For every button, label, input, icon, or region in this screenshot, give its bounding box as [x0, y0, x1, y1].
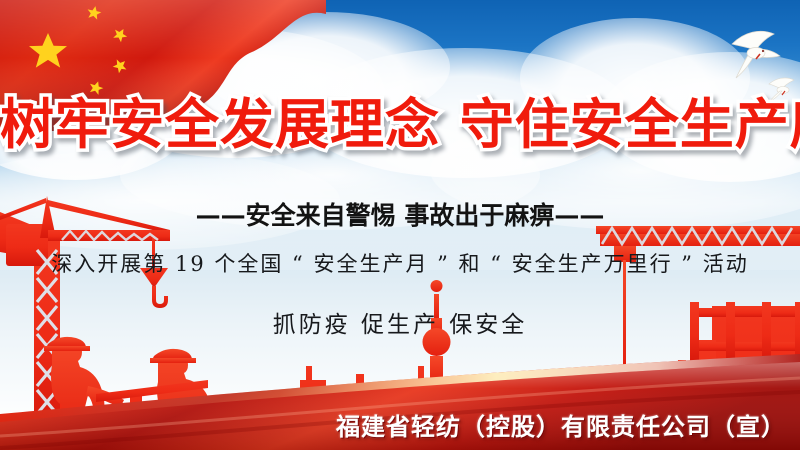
poster-subtitle: ——安全来自警惕 事故出于麻痹——: [0, 196, 800, 232]
issuer-credit: 福建省轻纺（控股）有限责任公司（宣）: [336, 407, 786, 442]
safety-campaign-poster: 树牢安全发展理念 守住安全生产底线 ——安全来自警惕 事故出于麻痹—— 深入开展…: [0, 0, 800, 450]
headline-text: 树牢安全发展理念 守住安全生产底线: [0, 93, 800, 156]
slogan-line: 抓防疫 促生产 保安全: [0, 305, 800, 339]
campaign-line: 深入开展第 19 个全国 “ 安全生产月 ” 和 “ 安全生产万里行 ” 活动: [0, 248, 800, 278]
poster-headline: 树牢安全发展理念 守住安全生产底线: [0, 94, 800, 156]
